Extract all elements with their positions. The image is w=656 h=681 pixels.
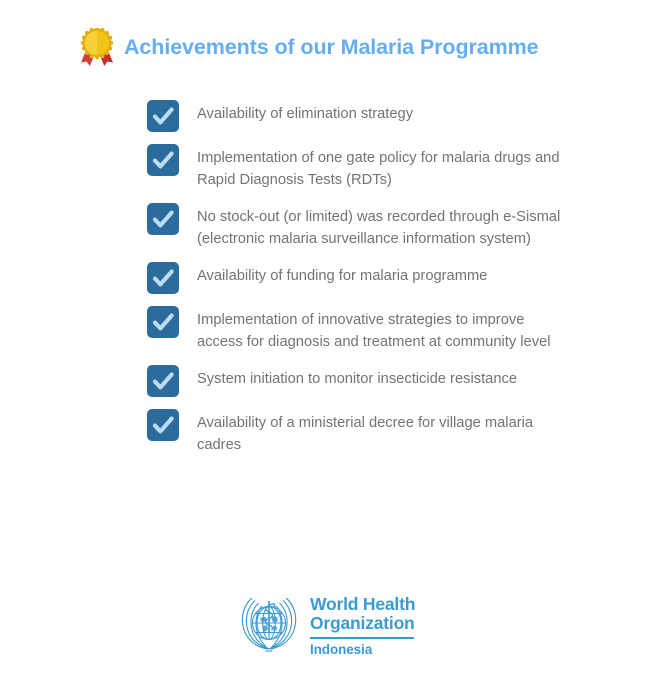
list-item: No stock-out (or limited) was recorded t… — [147, 203, 567, 250]
check-icon — [147, 306, 179, 338]
list-item-label: System initiation to monitor insecticide… — [197, 365, 517, 391]
list-item: Implementation of innovative strategies … — [147, 306, 567, 353]
who-country-label: Indonesia — [310, 642, 415, 657]
check-icon — [147, 262, 179, 294]
page-title: Achievements of our Malaria Programme — [124, 37, 539, 59]
list-item-label: Implementation of one gate policy for ma… — [197, 144, 567, 191]
list-item-label: Availability of elimination strategy — [197, 100, 413, 126]
page-header: Achievements of our Malaria Programme — [80, 28, 539, 68]
list-item-label: Availability of a ministerial decree for… — [197, 409, 567, 456]
who-wordmark: World Health Organization Indonesia — [310, 592, 415, 657]
check-icon — [147, 144, 179, 176]
who-logo: World Health Organization Indonesia — [238, 592, 415, 657]
who-name-line2: Organization — [310, 614, 415, 633]
who-divider — [310, 637, 414, 639]
who-emblem-icon — [238, 592, 300, 654]
check-icon — [147, 409, 179, 441]
check-icon — [147, 203, 179, 235]
check-icon — [147, 100, 179, 132]
list-item: Availability of a ministerial decree for… — [147, 409, 567, 456]
list-item: Availability of funding for malaria prog… — [147, 262, 567, 294]
list-item-label: Availability of funding for malaria prog… — [197, 262, 487, 288]
who-name-line1: World Health — [310, 595, 415, 614]
list-item-label: Implementation of innovative strategies … — [197, 306, 567, 353]
list-item: System initiation to monitor insecticide… — [147, 365, 567, 397]
medal-icon — [80, 28, 114, 68]
check-icon — [147, 365, 179, 397]
achievements-list: Availability of elimination strategy Imp… — [147, 100, 567, 456]
list-item: Implementation of one gate policy for ma… — [147, 144, 567, 191]
list-item: Availability of elimination strategy — [147, 100, 567, 132]
list-item-label: No stock-out (or limited) was recorded t… — [197, 203, 567, 250]
